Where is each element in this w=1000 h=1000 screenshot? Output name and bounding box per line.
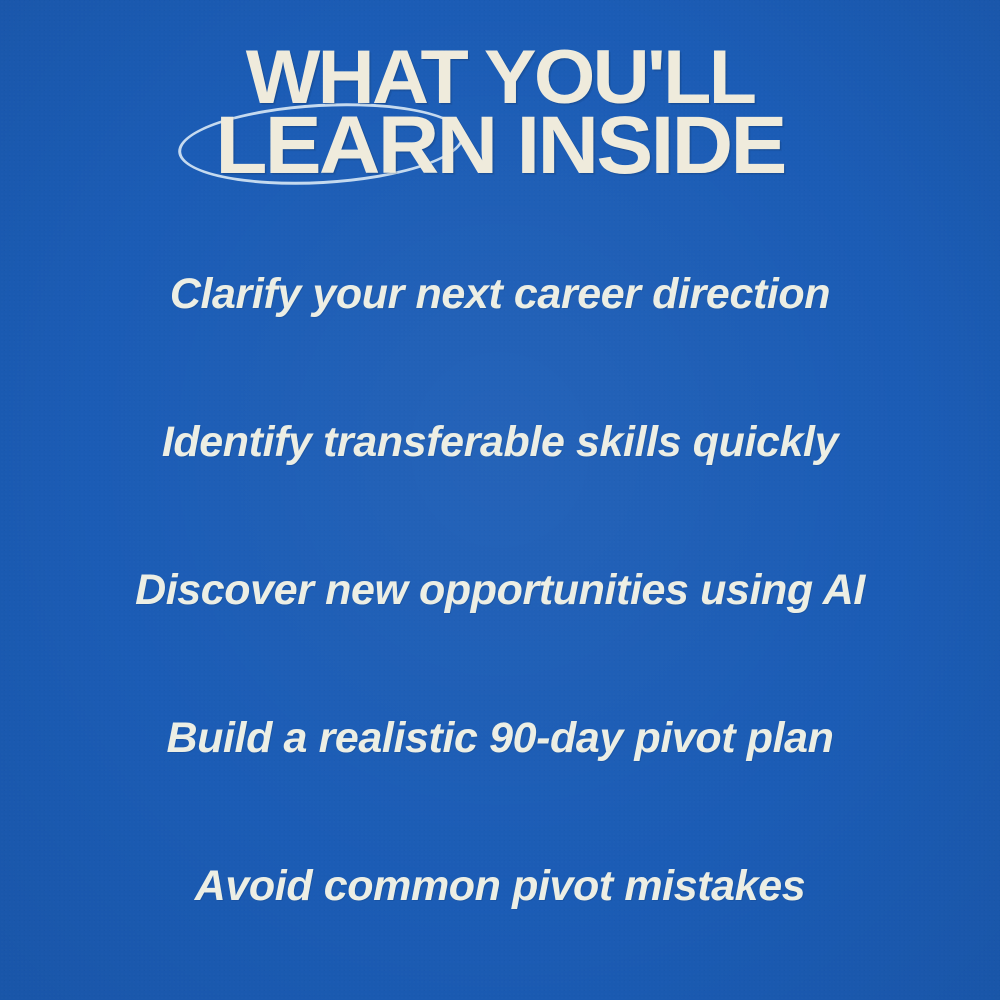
list-item: Build a realistic 90-day pivot plan: [0, 714, 1000, 762]
list-item: Identify transferable skills quickly: [0, 418, 1000, 466]
list-item: Discover new opportunities using AI: [0, 566, 1000, 614]
benefits-list: Clarify your next career direction Ident…: [0, 270, 1000, 910]
page-title: WHAT YOU'LL LEARN INSIDE: [0, 44, 1000, 180]
list-item: Clarify your next career direction: [0, 270, 1000, 318]
poster-slide: WHAT YOU'LL LEARN INSIDE Clarify your ne…: [0, 0, 1000, 1000]
page-title-line-2: LEARN INSIDE: [0, 112, 1000, 180]
list-item: Avoid common pivot mistakes: [0, 862, 1000, 910]
